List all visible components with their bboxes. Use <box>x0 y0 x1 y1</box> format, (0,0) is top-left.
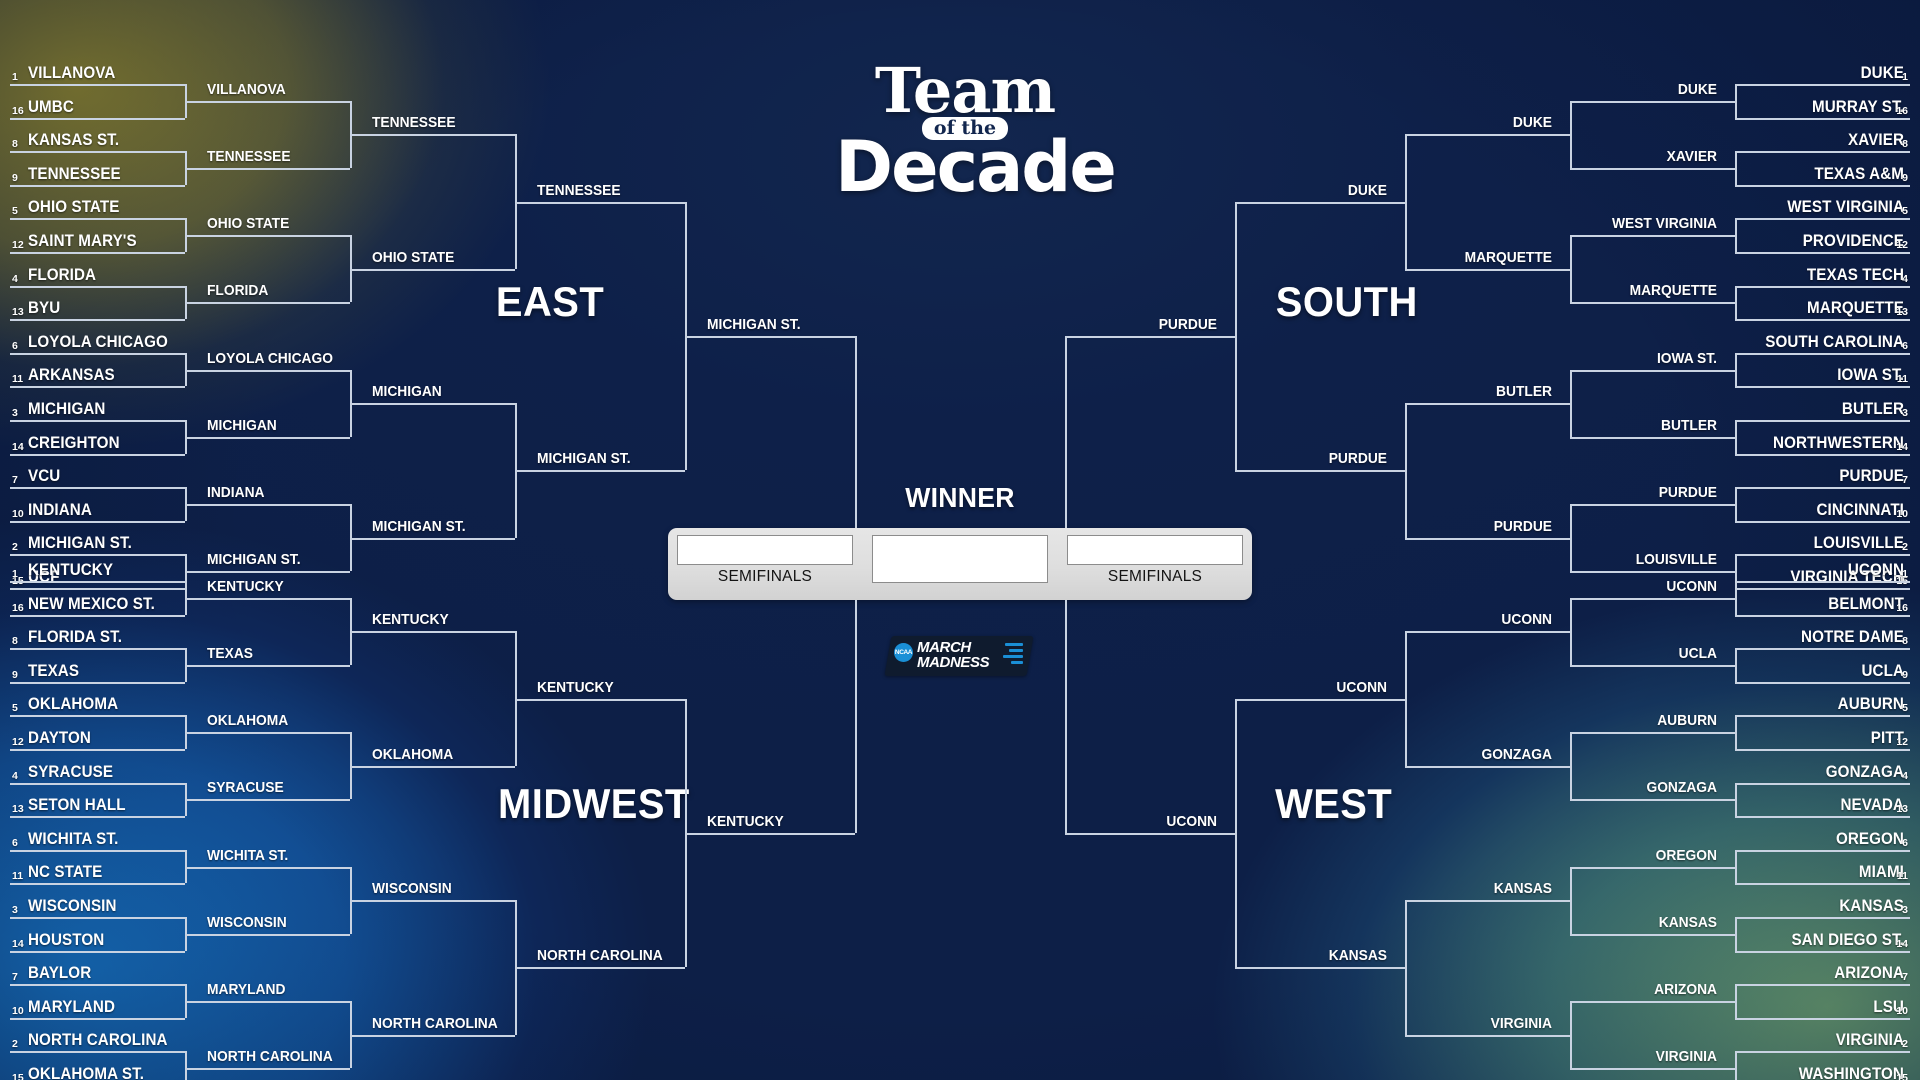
midwest-r2-team[interactable]: MARYLAND <box>207 978 285 1002</box>
midwest-r2-team[interactable]: TEXAS <box>207 642 253 666</box>
south-r1-seed: 4 <box>1882 273 1908 285</box>
midwest-r1-seed: 4 <box>12 770 18 782</box>
west-r1-seed: 13 <box>1882 803 1908 815</box>
west-r1-seed: 5 <box>1882 702 1908 714</box>
south-r2-team[interactable]: LOUISVILLE <box>1593 548 1717 572</box>
east-r1-team[interactable]: ARKANSAS <box>28 362 115 389</box>
south-r2-team[interactable]: PURDUE <box>1593 481 1717 505</box>
south-r2-team[interactable]: IOWA ST. <box>1593 347 1717 371</box>
east-r1-team[interactable]: MICHIGAN ST. <box>28 530 132 557</box>
east-r2-team[interactable]: MICHIGAN ST. <box>207 548 301 572</box>
east-r2-team[interactable]: FLORIDA <box>207 279 268 303</box>
south-r2-team[interactable]: MARQUETTE <box>1593 279 1717 303</box>
south-r3-team[interactable]: MARQUETTE <box>1428 246 1552 270</box>
midwest-r1-team[interactable]: MARYLAND <box>28 994 115 1021</box>
west-r1-bracket <box>1735 1051 1737 1080</box>
midwest-r2-team[interactable]: SYRACUSE <box>207 776 284 800</box>
west-r2-team[interactable]: GONZAGA <box>1593 776 1717 800</box>
midwest-r1-team[interactable]: WICHITA ST. <box>28 826 118 853</box>
south-r2-bracket <box>1570 504 1572 571</box>
west-r1-bracket <box>1735 917 1737 951</box>
west-r2-team[interactable]: UCLA <box>1593 642 1717 666</box>
march-madness-logo: NCAA MARCH MADNESS <box>884 636 1033 676</box>
east-r1-team[interactable]: INDIANA <box>28 497 92 524</box>
midwest-r1-team[interactable]: KENTUCKY <box>28 557 113 584</box>
east-r1-team[interactable]: SAINT MARY'S <box>28 228 137 255</box>
east-r1-seed: 14 <box>12 441 24 453</box>
west-r1-bracket <box>1735 783 1737 817</box>
semifinal-left-slot: SEMIFINALS <box>677 535 853 565</box>
south-r3-team[interactable]: BUTLER <box>1428 380 1552 404</box>
south-r1-seed: 12 <box>1882 239 1908 251</box>
midwest-r1-team[interactable]: HOUSTON <box>28 927 104 954</box>
south-r2-bracket <box>1570 235 1572 302</box>
east-r1-team[interactable]: LOYOLA CHICAGO <box>28 329 168 356</box>
south-r3-team[interactable]: PURDUE <box>1428 515 1552 539</box>
midwest-r1-team[interactable]: OKLAHOMA <box>28 691 118 718</box>
west-r2-team[interactable]: UCONN <box>1593 575 1717 599</box>
midwest-r2-team[interactable]: WICHITA ST. <box>207 844 288 868</box>
east-r1-team[interactable]: KANSAS ST. <box>28 127 119 154</box>
midwest-r1-seed: 13 <box>12 803 24 815</box>
south-r1-seed: 8 <box>1882 138 1908 150</box>
midwest-r1-team[interactable]: SETON HALL <box>28 792 126 819</box>
east-r1-team[interactable]: FLORIDA <box>28 262 96 289</box>
east-r3-team[interactable]: OHIO STATE <box>372 246 454 270</box>
semifinal-left-input[interactable] <box>677 535 853 565</box>
east-r2-team[interactable]: INDIANA <box>207 481 265 505</box>
midwest-r1-seed: 10 <box>12 1005 24 1017</box>
east-r1-seed: 7 <box>12 474 18 486</box>
west-r2-team[interactable]: KANSAS <box>1593 911 1717 935</box>
east-r1-seed: 1 <box>12 71 18 83</box>
east-r1-team[interactable]: BYU <box>28 295 60 322</box>
west-r4-team[interactable]: KANSAS <box>1258 944 1387 968</box>
south-r1-seed: 14 <box>1882 441 1908 453</box>
east-r1-seed: 12 <box>12 239 24 251</box>
midwest-r1-seed: 7 <box>12 971 18 983</box>
east-r4-team[interactable]: MICHIGAN ST. <box>537 447 631 471</box>
bracket-stage: Team of the Decade EAST SOUTH MIDWEST WE… <box>0 0 1920 1080</box>
midwest-r1-seed: 15 <box>12 1072 24 1080</box>
midwest-r1-seed: 5 <box>12 702 18 714</box>
midwest-r1-team[interactable]: NC STATE <box>28 859 102 886</box>
west-r1-seed: 8 <box>1882 635 1908 647</box>
west-r1-bracket <box>1735 850 1737 884</box>
midwest-r1-team[interactable]: FLORIDA ST. <box>28 624 122 651</box>
west-r1-seed: 14 <box>1882 938 1908 950</box>
west-r1-seed: 3 <box>1882 904 1908 916</box>
west-r1-bracket <box>1735 648 1737 682</box>
midwest-r1-seed: 6 <box>12 837 18 849</box>
south-r2-team[interactable]: BUTLER <box>1593 414 1717 438</box>
midwest-r1-seed: 8 <box>12 635 18 647</box>
midwest-r1-seed: 12 <box>12 736 24 748</box>
east-r1-seed: 6 <box>12 340 18 352</box>
logo-bars-icon <box>1003 641 1025 671</box>
midwest-r4-team[interactable]: KENTUCKY <box>537 676 614 700</box>
midwest-r1-bracket <box>185 1051 187 1080</box>
east-r5-team[interactable]: MICHIGAN ST. <box>707 313 801 337</box>
west-r3-bracket <box>1405 900 1407 1034</box>
west-r1-seed: 12 <box>1882 736 1908 748</box>
east-r1-team[interactable]: UMBC <box>28 94 74 121</box>
midwest-r1-team[interactable]: TEXAS <box>28 658 79 685</box>
east-r3-team[interactable]: TENNESSEE <box>372 111 456 135</box>
midwest-r1-team[interactable]: OKLAHOMA ST. <box>28 1061 144 1080</box>
west-r1-seed: 11 <box>1882 870 1908 882</box>
semifinal-right-input[interactable] <box>1067 535 1243 565</box>
east-r1-team[interactable]: MICHIGAN <box>28 396 105 423</box>
midwest-r3-team[interactable]: KENTUCKY <box>372 608 449 632</box>
south-r1-bracket <box>1735 151 1737 185</box>
ncaa-icon: NCAA <box>894 643 913 662</box>
final-four-right-connector <box>1065 336 1067 528</box>
west-r2-bracket <box>1570 867 1572 934</box>
midwest-r1-team[interactable]: SYRACUSE <box>28 759 113 786</box>
south-r1-seed: 10 <box>1882 508 1908 520</box>
midwest-r2-team[interactable]: WISCONSIN <box>207 911 287 935</box>
south-r1-seed: 11 <box>1882 373 1908 385</box>
west-r1-seed: 9 <box>1882 669 1908 681</box>
west-r2-team[interactable]: AUBURN <box>1593 709 1717 733</box>
west-r1-seed: 2 <box>1882 1038 1908 1050</box>
midwest-r1-team[interactable]: DAYTON <box>28 725 91 752</box>
south-r1-bracket <box>1735 286 1737 320</box>
east-r1-seed: 11 <box>12 373 23 385</box>
south-r2-team[interactable]: XAVIER <box>1593 145 1717 169</box>
south-r2-team[interactable]: DUKE <box>1593 78 1717 102</box>
south-r3-team[interactable]: DUKE <box>1428 111 1552 135</box>
east-r1-seed: 9 <box>12 172 18 184</box>
east-r2-team[interactable]: VILLANOVA <box>207 78 286 102</box>
region-label-south: SOUTH <box>1276 278 1418 326</box>
west-r2-bracket <box>1570 732 1572 799</box>
midwest-r3-team[interactable]: WISCONSIN <box>372 877 452 901</box>
south-r5-team[interactable]: PURDUE <box>1088 313 1217 337</box>
east-r1-seed: 4 <box>12 273 18 285</box>
midwest-r1-team[interactable]: WISCONSIN <box>28 893 117 920</box>
east-r1-seed: 2 <box>12 541 18 553</box>
east-r1-team[interactable]: VCU <box>28 463 60 490</box>
east-r2-team[interactable]: OHIO STATE <box>207 212 289 236</box>
south-r2-bracket <box>1570 370 1572 437</box>
west-r5-team[interactable]: UCONN <box>1088 810 1217 834</box>
west-r4-team[interactable]: UCONN <box>1258 676 1387 700</box>
west-r1-seed: 1 <box>1882 568 1908 580</box>
west-r4-bracket <box>1235 699 1237 968</box>
south-r2-bracket <box>1570 101 1572 168</box>
south-r2-team[interactable]: WEST VIRGINIA <box>1593 212 1717 236</box>
south-r3-bracket <box>1405 403 1407 537</box>
west-r1-seed: 15 <box>1882 1072 1908 1080</box>
east-r2-team[interactable]: MICHIGAN <box>207 414 277 438</box>
region-label-west: WEST <box>1275 780 1392 828</box>
east-r1-team[interactable]: OHIO STATE <box>28 194 119 221</box>
south-r1-seed: 2 <box>1882 541 1908 553</box>
south-r1-seed: 7 <box>1882 474 1908 486</box>
region-label-east: EAST <box>496 278 604 326</box>
south-r1-bracket <box>1735 420 1737 454</box>
south-r1-seed: 1 <box>1882 71 1908 83</box>
west-r2-team[interactable]: ARIZONA <box>1593 978 1717 1002</box>
championship-slot <box>872 535 1048 583</box>
semifinal-left-caption: SEMIFINALS <box>677 568 853 586</box>
winner-panel: SEMIFINALS SEMIFINALS <box>668 528 1252 600</box>
east-r3-team[interactable]: MICHIGAN ST. <box>372 515 466 539</box>
east-r2-team[interactable]: LOYOLA CHICAGO <box>207 347 333 371</box>
south-r1-seed: 6 <box>1882 340 1908 352</box>
south-r1-seed: 16 <box>1882 105 1908 117</box>
south-r4-bracket <box>1235 202 1237 471</box>
south-r1-seed: 3 <box>1882 407 1908 419</box>
east-r1-seed: 8 <box>12 138 18 150</box>
midwest-r1-seed: 11 <box>12 870 23 882</box>
west-r3-team[interactable]: UCONN <box>1428 608 1552 632</box>
west-r2-bracket <box>1570 1001 1572 1068</box>
east-r3-team[interactable]: MICHIGAN <box>372 380 442 404</box>
south-r1-seed: 13 <box>1882 306 1908 318</box>
south-r1-bracket <box>1735 487 1737 521</box>
midwest-r5-team[interactable]: KENTUCKY <box>707 810 784 834</box>
midwest-r1-seed: 14 <box>12 938 24 950</box>
west-r1-bracket <box>1735 984 1737 1018</box>
title-line-decade: Decade <box>835 135 1095 199</box>
midwest-r1-team[interactable]: BAYLOR <box>28 960 91 987</box>
east-r1-team[interactable]: VILLANOVA <box>28 60 115 87</box>
east-r2-team[interactable]: TENNESSEE <box>207 145 291 169</box>
west-r3-team[interactable]: GONZAGA <box>1428 743 1552 767</box>
page-title: Team of the Decade <box>835 62 1095 199</box>
midwest-r2-team[interactable]: OKLAHOMA <box>207 709 288 733</box>
midwest-r1-team[interactable]: NEW MEXICO ST. <box>28 591 155 618</box>
midwest-r1-seed: 2 <box>12 1038 18 1050</box>
south-r1-bracket <box>1735 84 1737 118</box>
west-r3-bracket <box>1405 631 1407 765</box>
west-r1-bracket <box>1735 715 1737 749</box>
east-r4-team[interactable]: TENNESSEE <box>537 179 621 203</box>
final-four-right-lower-connector <box>1065 600 1067 833</box>
east-r1-seed: 10 <box>12 508 24 520</box>
west-r1-seed: 7 <box>1882 971 1908 983</box>
final-four-left-connector <box>855 336 857 528</box>
logo-word-madness: MADNESS <box>917 654 989 671</box>
midwest-r1-seed: 9 <box>12 669 18 681</box>
west-r1-bracket <box>1735 581 1737 615</box>
south-r1-seed: 5 <box>1882 205 1908 217</box>
semifinal-right-slot: SEMIFINALS <box>1067 535 1243 565</box>
semifinal-right-caption: SEMIFINALS <box>1067 568 1243 586</box>
midwest-r4-team[interactable]: NORTH CAROLINA <box>537 944 663 968</box>
west-r1-seed: 6 <box>1882 837 1908 849</box>
title-line-team: Team <box>835 62 1095 121</box>
south-r1-bracket <box>1735 353 1737 387</box>
west-r1-seed: 4 <box>1882 770 1908 782</box>
final-four-left-lower-connector <box>855 600 857 833</box>
region-label-midwest: MIDWEST <box>498 780 690 828</box>
midwest-r3-team[interactable]: NORTH CAROLINA <box>372 1012 498 1036</box>
east-r1-seed: 13 <box>12 306 24 318</box>
west-r3-team[interactable]: KANSAS <box>1428 877 1552 901</box>
midwest-r2-team[interactable]: KENTUCKY <box>207 575 284 599</box>
midwest-r3-team[interactable]: OKLAHOMA <box>372 743 453 767</box>
west-r1-seed: 10 <box>1882 1005 1908 1017</box>
south-r1-bracket <box>1735 218 1737 252</box>
east-r1-team[interactable]: TENNESSEE <box>28 161 121 188</box>
midwest-r2-team[interactable]: NORTH CAROLINA <box>207 1045 333 1069</box>
west-r2-team[interactable]: OREGON <box>1593 844 1717 868</box>
midwest-r1-seed: 1 <box>12 568 18 580</box>
west-r2-team[interactable]: VIRGINIA <box>1593 1045 1717 1069</box>
midwest-r1-team[interactable]: NORTH CAROLINA <box>28 1027 168 1054</box>
title-line-ofthe: of the <box>922 117 1008 140</box>
south-r4-team[interactable]: DUKE <box>1258 179 1387 203</box>
south-r4-team[interactable]: PURDUE <box>1258 447 1387 471</box>
championship-input[interactable] <box>872 535 1048 583</box>
east-r1-seed: 16 <box>12 105 24 117</box>
south-r1-seed: 9 <box>1882 172 1908 184</box>
west-r3-team[interactable]: VIRGINIA <box>1428 1012 1552 1036</box>
east-r1-seed: 3 <box>12 407 18 419</box>
east-r1-seed: 5 <box>12 205 18 217</box>
west-r1-seed: 16 <box>1882 602 1908 614</box>
midwest-r1-seed: 16 <box>12 602 24 614</box>
east-r1-team[interactable]: CREIGHTON <box>28 430 120 457</box>
south-r3-bracket <box>1405 134 1407 268</box>
midwest-r1-seed: 3 <box>12 904 18 916</box>
west-r2-bracket <box>1570 598 1572 665</box>
